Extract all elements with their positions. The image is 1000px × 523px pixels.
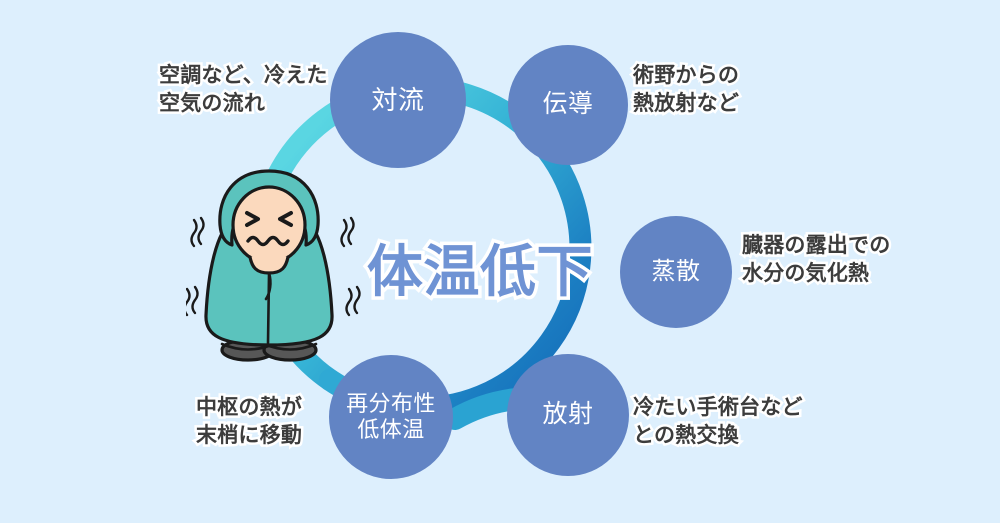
node-redistribution[interactable]: 再分布性 低体温 (329, 355, 453, 479)
shivering-person-illustration (186, 163, 366, 368)
diagram-canvas: 対流 伝導 蒸散 放射 再分布性 低体温 体温低下 空調など、冷えた 空気の流れ… (0, 0, 1000, 523)
node-evaporation[interactable]: 蒸散 (620, 216, 732, 328)
node-conduction[interactable]: 伝導 (508, 45, 628, 165)
node-convection-label: 対流 (371, 85, 424, 116)
caption-redistribution: 中枢の熱が 末梢に移動 (196, 394, 302, 449)
center-title: 体温低下 (330, 227, 630, 308)
node-radiation-label: 放射 (542, 400, 593, 430)
caption-evaporation: 臓器の露出での 水分の気化熱 (742, 232, 890, 287)
node-convection[interactable]: 対流 (330, 32, 466, 168)
face (233, 187, 305, 263)
caption-conduction: 術野からの 熱放射など (633, 62, 739, 117)
node-radiation[interactable]: 放射 (507, 354, 629, 476)
node-evaporation-label: 蒸散 (652, 258, 701, 286)
caption-convection: 空調など、冷えた 空気の流れ (159, 62, 328, 117)
caption-radiation: 冷たい手術台など との熱交換 (633, 394, 803, 449)
node-redistribution-label: 再分布性 低体温 (346, 391, 436, 443)
node-conduction-label: 伝導 (542, 90, 593, 120)
